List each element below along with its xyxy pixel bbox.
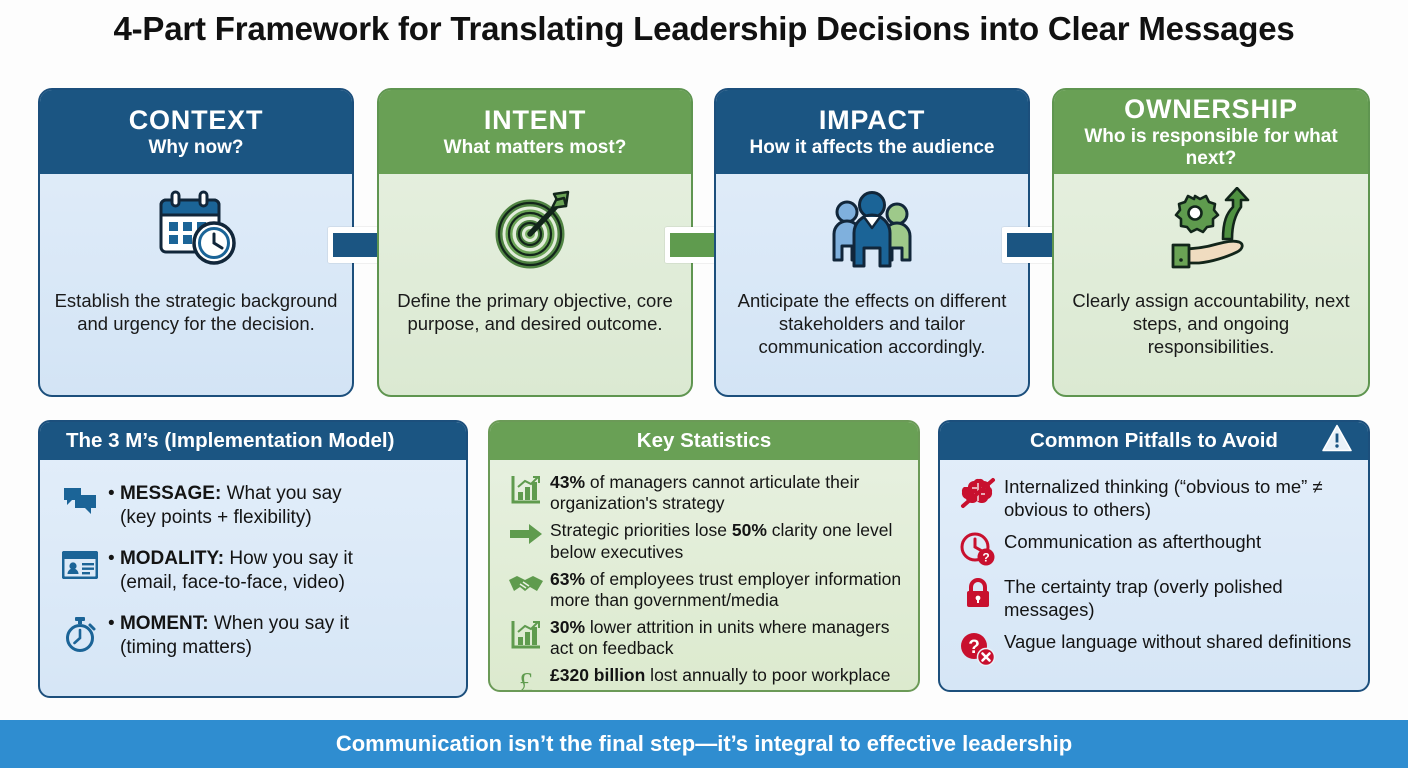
svg-text:£: £ (519, 668, 533, 692)
three-ms-label: MODALITY: (120, 548, 224, 569)
three-ms-line1: What you say (221, 483, 341, 504)
panel-key-statistics[interactable]: Key Statistics 43% of managers cannot ar… (488, 420, 920, 692)
stopwatch-icon (52, 612, 108, 652)
statistic-label: lower attrition in units where managers … (550, 617, 889, 658)
card-description-ownership: Clearly assign accountability, next step… (1054, 284, 1368, 358)
page-title: 4-Part Framework for Translating Leaders… (0, 10, 1408, 48)
panel-three-ms[interactable]: The 3 M’s (Implementation Model) • MESSA… (38, 420, 468, 698)
panel-body-key-statistics: 43% of managers cannot articulate their … (490, 460, 918, 692)
list-item[interactable]: ? Communication as afterthought (952, 531, 1356, 566)
framework-card-context[interactable]: CONTEXT Why now? Establish the strategic… (38, 88, 354, 397)
card-subtitle-context: Why now? (149, 137, 244, 158)
statistic-value: 30% (550, 617, 585, 637)
card-title-context: CONTEXT (129, 106, 264, 134)
card-header-context: CONTEXT Why now? (40, 90, 352, 174)
panel-title-key-statistics: Key Statistics (637, 429, 771, 453)
card-description-intent: Define the primary objective, core purpo… (379, 284, 691, 336)
chat-bubbles-icon (52, 482, 108, 516)
three-ms-label: MESSAGE: (120, 483, 221, 504)
pitfall-text: Communication as afterthought (1004, 531, 1261, 554)
card-subtitle-intent: What matters most? (444, 137, 627, 158)
list-item[interactable]: 30% lower attrition in units where manag… (502, 617, 906, 659)
bar-chart-up-icon (502, 617, 550, 649)
three-ms-line2: (key points + flexibility) (120, 506, 312, 530)
panel-title-three-ms: The 3 M’s (Implementation Model) (66, 429, 394, 453)
card-header-intent: INTENT What matters most? (379, 90, 691, 174)
panel-header-key-statistics: Key Statistics (490, 422, 918, 460)
three-ms-text: • MODALITY: How you say it (email, face-… (108, 547, 353, 594)
framework-card-intent[interactable]: INTENT What matters most? Define the pri… (377, 88, 693, 397)
pitfall-text: The certainty trap (overly polished mess… (1004, 576, 1356, 621)
footer-banner: Communication isn’t the final step—it’s … (0, 720, 1408, 768)
svg-text:?: ? (982, 551, 989, 565)
list-item[interactable]: • MODALITY: How you say it (email, face-… (52, 547, 454, 594)
list-item[interactable]: 63% of employees trust employer informat… (502, 569, 906, 611)
infographic-canvas: 4-Part Framework for Translating Leaders… (0, 0, 1408, 768)
card-title-ownership: OWNERSHIP (1124, 95, 1298, 123)
card-subtitle-impact: How it affects the audience (750, 137, 995, 158)
bullet-marker: • (108, 483, 115, 504)
panel-header-three-ms: The 3 M’s (Implementation Model) (40, 422, 466, 460)
pound-sterling-icon: £ (502, 665, 550, 692)
card-description-context: Establish the strategic background and u… (40, 284, 352, 336)
id-card-icon (52, 547, 108, 579)
three-ms-text: • MESSAGE: What you say (key points + fl… (108, 482, 342, 529)
list-item[interactable]: £ £320 billion lost annually to poor wor… (502, 665, 906, 692)
statistic-value: £320 billion (550, 665, 645, 685)
three-ms-line1: When you say it (209, 613, 349, 634)
card-description-impact: Anticipate the effects on different stak… (716, 284, 1028, 358)
list-item[interactable]: The certainty trap (overly polished mess… (952, 576, 1356, 621)
statistic-label: of managers cannot articulate their orga… (550, 472, 859, 513)
three-ms-line2: (timing matters) (120, 636, 252, 660)
statistic-text: 43% of managers cannot articulate their … (550, 472, 906, 514)
lock-icon (952, 576, 1004, 609)
statistic-text: Strategic priorities lose 50% clarity on… (550, 520, 906, 562)
three-ms-text: • MOMENT: When you say it (timing matter… (108, 612, 349, 659)
card-title-intent: INTENT (484, 106, 586, 134)
bullet-marker: • (108, 548, 115, 569)
footer-message: Communication isn’t the final step—it’s … (336, 731, 1072, 757)
three-ms-line1: How you say it (224, 548, 353, 569)
clock-question-icon: ? (952, 531, 1004, 566)
statistic-text: 30% lower attrition in units where manag… (550, 617, 906, 659)
people-group-icon (716, 174, 1028, 284)
calendar-clock-icon (40, 174, 352, 284)
statistic-label-before: Strategic priorities lose (550, 520, 732, 540)
panel-title-common-pitfalls: Common Pitfalls to Avoid (1030, 429, 1278, 453)
statistic-text: £320 billion lost annually to poor workp… (550, 665, 906, 692)
list-item[interactable]: • MESSAGE: What you say (key points + fl… (52, 482, 454, 529)
list-item[interactable]: • MOMENT: When you say it (timing matter… (52, 612, 454, 659)
list-item[interactable]: Strategic priorities lose 50% clarity on… (502, 520, 906, 562)
list-item[interactable]: ? Vague language without shared definiti… (952, 631, 1356, 666)
panel-common-pitfalls[interactable]: Common Pitfalls to Avoid Inter (938, 420, 1370, 692)
panel-body-three-ms: • MESSAGE: What you say (key points + fl… (40, 460, 466, 667)
statistic-value: 50% (732, 520, 767, 540)
card-header-impact: IMPACT How it affects the audience (716, 90, 1028, 174)
statistic-value: 43% (550, 472, 585, 492)
card-subtitle-ownership: Who is responsible for what next? (1060, 126, 1362, 169)
framework-card-impact[interactable]: IMPACT How it affects the audience Antic… (714, 88, 1030, 397)
three-ms-line2: (email, face-to-face, video) (120, 571, 345, 595)
target-arrow-icon (379, 174, 691, 284)
card-title-impact: IMPACT (819, 106, 925, 134)
statistic-text: 63% of employees trust employer informat… (550, 569, 906, 611)
warning-triangle-icon (1322, 425, 1352, 458)
panel-header-common-pitfalls: Common Pitfalls to Avoid (940, 422, 1368, 460)
question-x-icon: ? (952, 631, 1004, 666)
list-item[interactable]: Internalized thinking (“obvious to me” ≠… (952, 476, 1356, 521)
statistic-label: of employees trust employer information … (550, 569, 901, 610)
three-ms-label: MOMENT: (120, 613, 209, 634)
pitfall-text: Vague language without shared definition… (1004, 631, 1351, 654)
bullet-marker: • (108, 613, 115, 634)
framework-card-ownership[interactable]: OWNERSHIP Who is responsible for what ne… (1052, 88, 1370, 397)
arrow-right-solid-icon (502, 520, 550, 546)
pitfall-text: Internalized thinking (“obvious to me” ≠… (1004, 476, 1356, 521)
handshake-icon (502, 569, 550, 597)
bar-chart-up-icon (502, 472, 550, 504)
card-header-ownership: OWNERSHIP Who is responsible for what ne… (1054, 90, 1368, 174)
list-item[interactable]: 43% of managers cannot articulate their … (502, 472, 906, 514)
brain-crossed-out-icon (952, 476, 1004, 509)
hand-gear-arrow-icon (1054, 174, 1368, 284)
statistic-value: 63% (550, 569, 585, 589)
panel-body-common-pitfalls: Internalized thinking (“obvious to me” ≠… (940, 460, 1368, 684)
